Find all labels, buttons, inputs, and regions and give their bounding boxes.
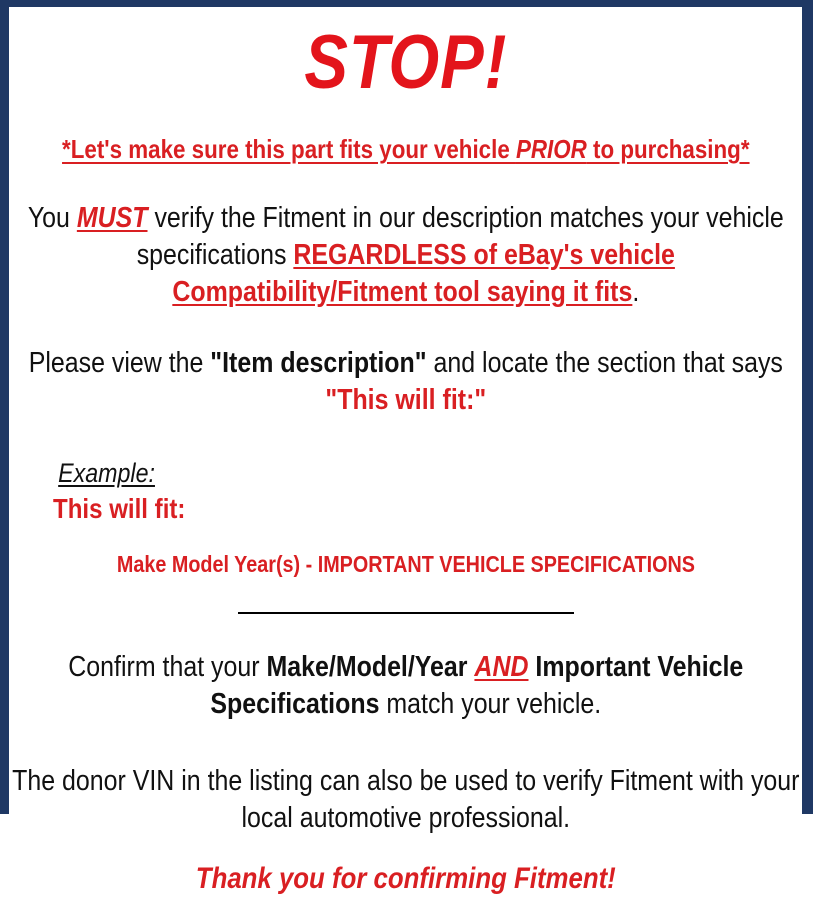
p2-item-description-emphasis: "Item description" [210, 347, 426, 379]
page-title-text: STOP! [11, 25, 800, 101]
paragraph-item-description-text: Please view the "Item description" and l… [11, 345, 800, 419]
example-spec-line-text: Make Model Year(s) - IMPORTANT VEHICLE S… [53, 551, 758, 579]
example-this-will-fit-text: This will fit: [53, 493, 185, 525]
example-label-text: Example: [58, 459, 171, 489]
example-this-will-fit: This will fit: [53, 493, 800, 525]
paragraph-confirm: Confirm that your Make/Model/Year AND Im… [11, 649, 800, 723]
paragraph-item-description: Please view the "Item description" and l… [11, 345, 800, 419]
p3-and-emphasis: AND [474, 651, 528, 683]
subtitle-banner: *Let's make sure this part fits your veh… [11, 135, 800, 164]
p2-seg-3: and locate the section that says [426, 347, 782, 379]
p1-must-emphasis: MUST [77, 202, 148, 234]
example-spec-line: Make Model Year(s) - IMPORTANT VEHICLE S… [53, 551, 800, 579]
thank-you-line: Thank you for confirming Fitment! [11, 861, 800, 897]
section-divider-wrap [11, 605, 800, 623]
paragraph-must-verify-text: You MUST verify the Fitment in our descr… [11, 200, 800, 311]
paragraph-donor-vin-text: The donor VIN in the listing can also be… [11, 763, 800, 837]
fitment-notice-card: STOP! *Let's make sure this part fits yo… [0, 0, 813, 814]
page-title: STOP! [11, 25, 800, 101]
p1-seg-5: . [632, 276, 639, 308]
subtitle-text: *Let's make sure this part fits your veh… [11, 135, 800, 164]
p3-make-model-year-emphasis: Make/Model/Year [266, 651, 467, 683]
example-block: Example: This will fit: Make Model Year(… [11, 459, 800, 578]
p3-seg-5: match your vehicle. [379, 688, 601, 720]
p1-seg-1: You [28, 202, 77, 234]
example-label: Example: [58, 459, 171, 489]
paragraph-confirm-text: Confirm that your Make/Model/Year AND Im… [11, 649, 800, 723]
thank-you-text: Thank you for confirming Fitment! [11, 861, 800, 897]
p2-seg-1: Please view the [28, 347, 210, 379]
example-label-row: Example: [53, 459, 800, 489]
subtitle-emphasis: PRIOR [516, 134, 587, 164]
section-divider [238, 612, 574, 614]
p2-this-will-fit-emphasis: "This will fit:" [325, 384, 486, 416]
p3-seg-1: Confirm that your [68, 651, 266, 683]
notice-body: STOP! *Let's make sure this part fits yo… [9, 25, 802, 823]
paragraph-must-verify: You MUST verify the Fitment in our descr… [11, 200, 800, 311]
subtitle-before: *Let's make sure this part fits your veh… [62, 134, 516, 164]
paragraph-donor-vin: The donor VIN in the listing can also be… [11, 763, 800, 837]
subtitle-after: to purchasing* [586, 134, 749, 164]
